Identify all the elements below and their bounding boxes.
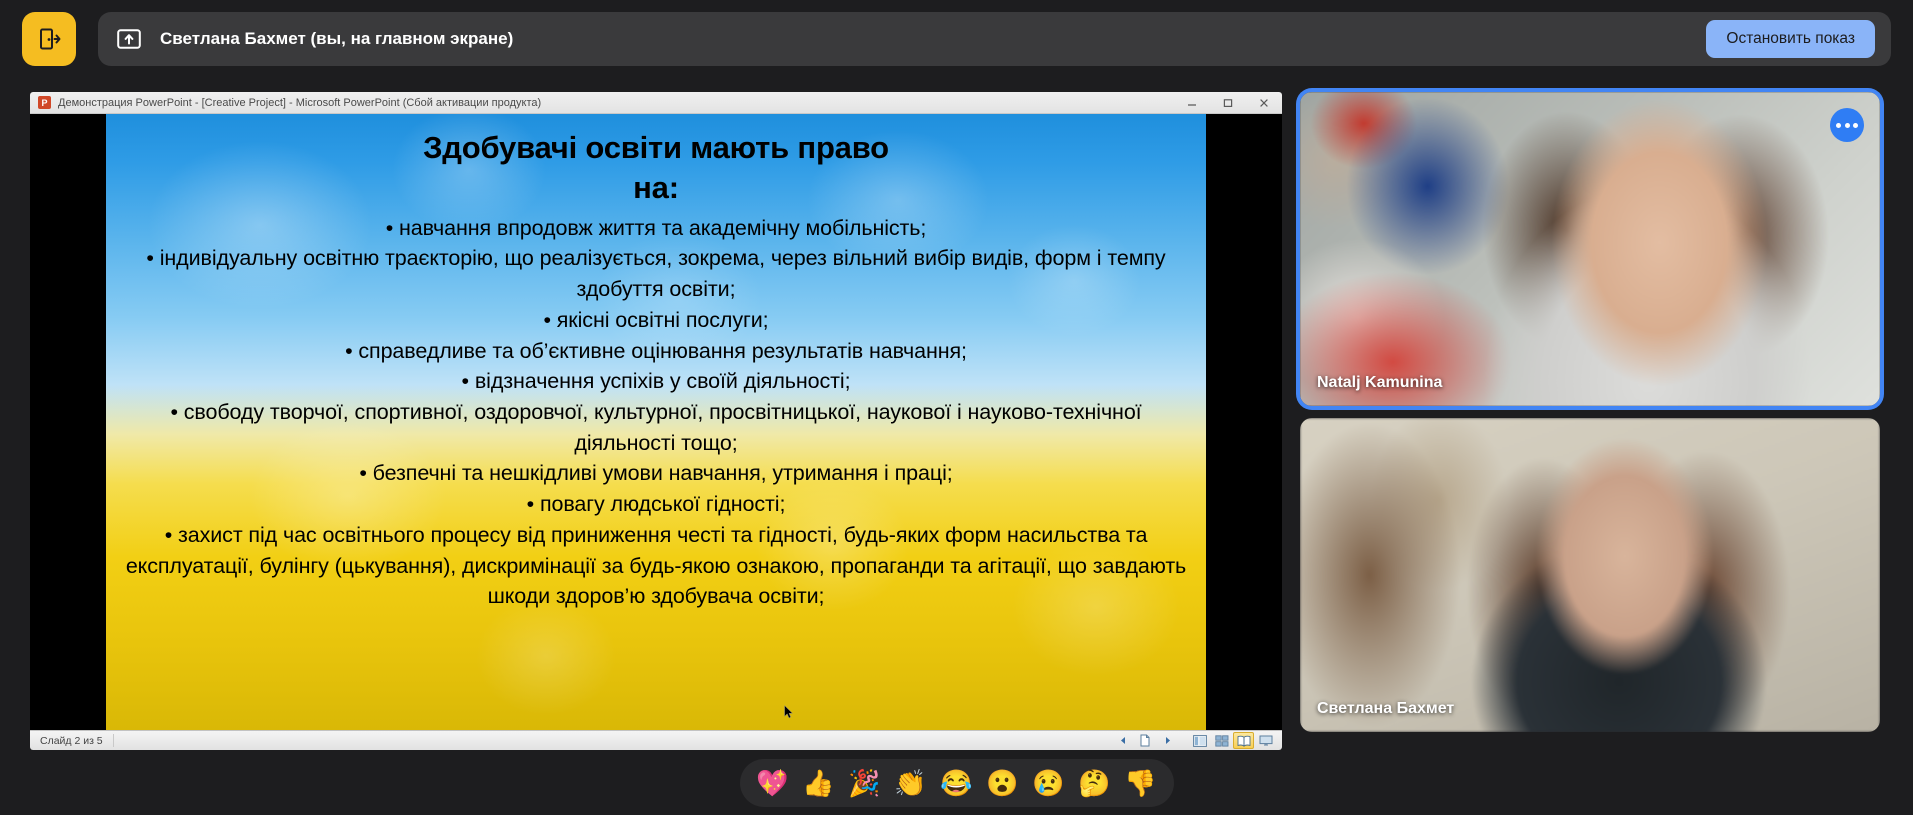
previous-slide-icon [1118,735,1129,746]
powerpoint-title-bar: P Демонстрация PowerPoint - [Creative Pr… [30,92,1282,114]
close-icon [1258,97,1270,109]
more-options-icon [1845,123,1850,128]
sparkling-heart-reaction-button[interactable]: 💖 [754,764,792,802]
slide-title-line-2: на: [124,168,1188,208]
view-mode-group [1189,732,1276,749]
participant-tile[interactable]: Natalj Kamunina [1300,92,1880,406]
mouse-cursor-icon [784,705,794,719]
slide-counter: Слайд 2 из 5 [40,735,103,747]
new-slide-button[interactable] [1135,732,1155,749]
slide-show-view-icon [1259,735,1273,747]
top-bar: Светлана Бахмет (вы, на главном экране) … [0,0,1913,78]
slide-bullet: • захист під час освітнього процесу від … [124,520,1188,612]
shared-screen-stage[interactable]: P Демонстрация PowerPoint - [Creative Pr… [30,92,1282,750]
restore-icon [1222,97,1234,109]
window-controls [1174,92,1282,114]
slide-sorter-view-button[interactable] [1211,732,1232,749]
face-with-tears-of-joy-reaction-button[interactable]: 😂 [938,764,976,802]
presentation-slide: Здобувачі освіти мають право на: • навча… [106,114,1206,730]
reading-view-icon [1237,735,1251,747]
slide-bullet: • справедливе та об’єктивне оцінювання р… [124,336,1188,367]
share-title-text: Светлана Бахмет (вы, на главном экране) [160,29,513,49]
slide-bullet: • свободу творчої, спортивної, оздоровчо… [124,397,1188,458]
powerpoint-logo-icon: P [38,96,51,109]
leave-meeting-icon [36,26,62,52]
crying-face-reaction-button[interactable]: 😢 [1030,764,1068,802]
leave-meeting-button[interactable] [22,12,76,66]
slide-bullet: • навчання впродовж життя та академічну … [124,213,1188,244]
slide-bullet: • відзначення успіхів у своїй діяльності… [124,366,1188,397]
close-button[interactable] [1246,92,1282,114]
status-bar-controls [1113,732,1276,749]
restore-button[interactable] [1210,92,1246,114]
next-slide-icon [1162,735,1173,746]
slide-viewport[interactable]: Здобувачі освіти мають право на: • навча… [30,114,1282,730]
video-conference-app: Светлана Бахмет (вы, на главном экране) … [0,0,1913,815]
face-with-open-mouth-reaction-button[interactable]: 😮 [984,764,1022,802]
participant-name-label: Светлана Бахмет [1317,700,1454,718]
slide-bullet: • безпечні та нешкідливі умови навчання,… [124,458,1188,489]
slide-show-view-button[interactable] [1255,732,1276,749]
slide-bullet: • повагу людської гідності; [124,489,1188,520]
previous-slide-button[interactable] [1113,732,1133,749]
new-slide-icon [1139,734,1151,747]
participant-tile[interactable]: Светлана Бахмет [1300,418,1880,732]
party-popper-reaction-button[interactable]: 🎉 [846,764,884,802]
participant-rail: Natalj Kamunina Светлана Бахмет [1300,92,1880,732]
powerpoint-status-bar: Слайд 2 из 5 [30,730,1282,750]
minimize-icon [1186,97,1198,109]
thinking-face-reaction-button[interactable]: 🤔 [1076,764,1114,802]
minimize-button[interactable] [1174,92,1210,114]
slide-bullet-list: • навчання впродовж життя та академічну … [124,213,1188,613]
reactions-bar: 💖 👍 🎉 👏 😂 😮 😢 🤔 👎 [740,759,1174,807]
status-divider [113,734,114,747]
slide-title-line-1: Здобувачі освіти мають право [124,128,1188,168]
next-slide-button[interactable] [1157,732,1177,749]
normal-view-button[interactable] [1189,732,1210,749]
slide-bullet: • якісні освітні послуги; [124,305,1188,336]
powerpoint-window-title: Демонстрация PowerPoint - [Creative Proj… [58,97,541,109]
more-options-icon [1836,123,1841,128]
participant-video-feed [1300,418,1880,732]
reading-view-button[interactable] [1233,732,1254,749]
clapping-hands-reaction-button[interactable]: 👏 [892,764,930,802]
more-options-icon [1853,123,1858,128]
screen-share-icon [114,24,144,54]
share-status-bar: Светлана Бахмет (вы, на главном экране) … [98,12,1891,66]
normal-view-icon [1193,735,1207,747]
participant-name-label: Natalj Kamunina [1317,374,1442,392]
thumbs-up-reaction-button[interactable]: 👍 [800,764,838,802]
more-options-button[interactable] [1830,108,1864,142]
slide-bullet: • індивідуальну освітню траєкторію, що р… [124,243,1188,304]
slide-sorter-view-icon [1215,735,1229,747]
participant-video-feed [1300,92,1880,406]
stop-share-button[interactable]: Остановить показ [1706,20,1875,58]
thumbs-down-reaction-button[interactable]: 👎 [1122,764,1160,802]
